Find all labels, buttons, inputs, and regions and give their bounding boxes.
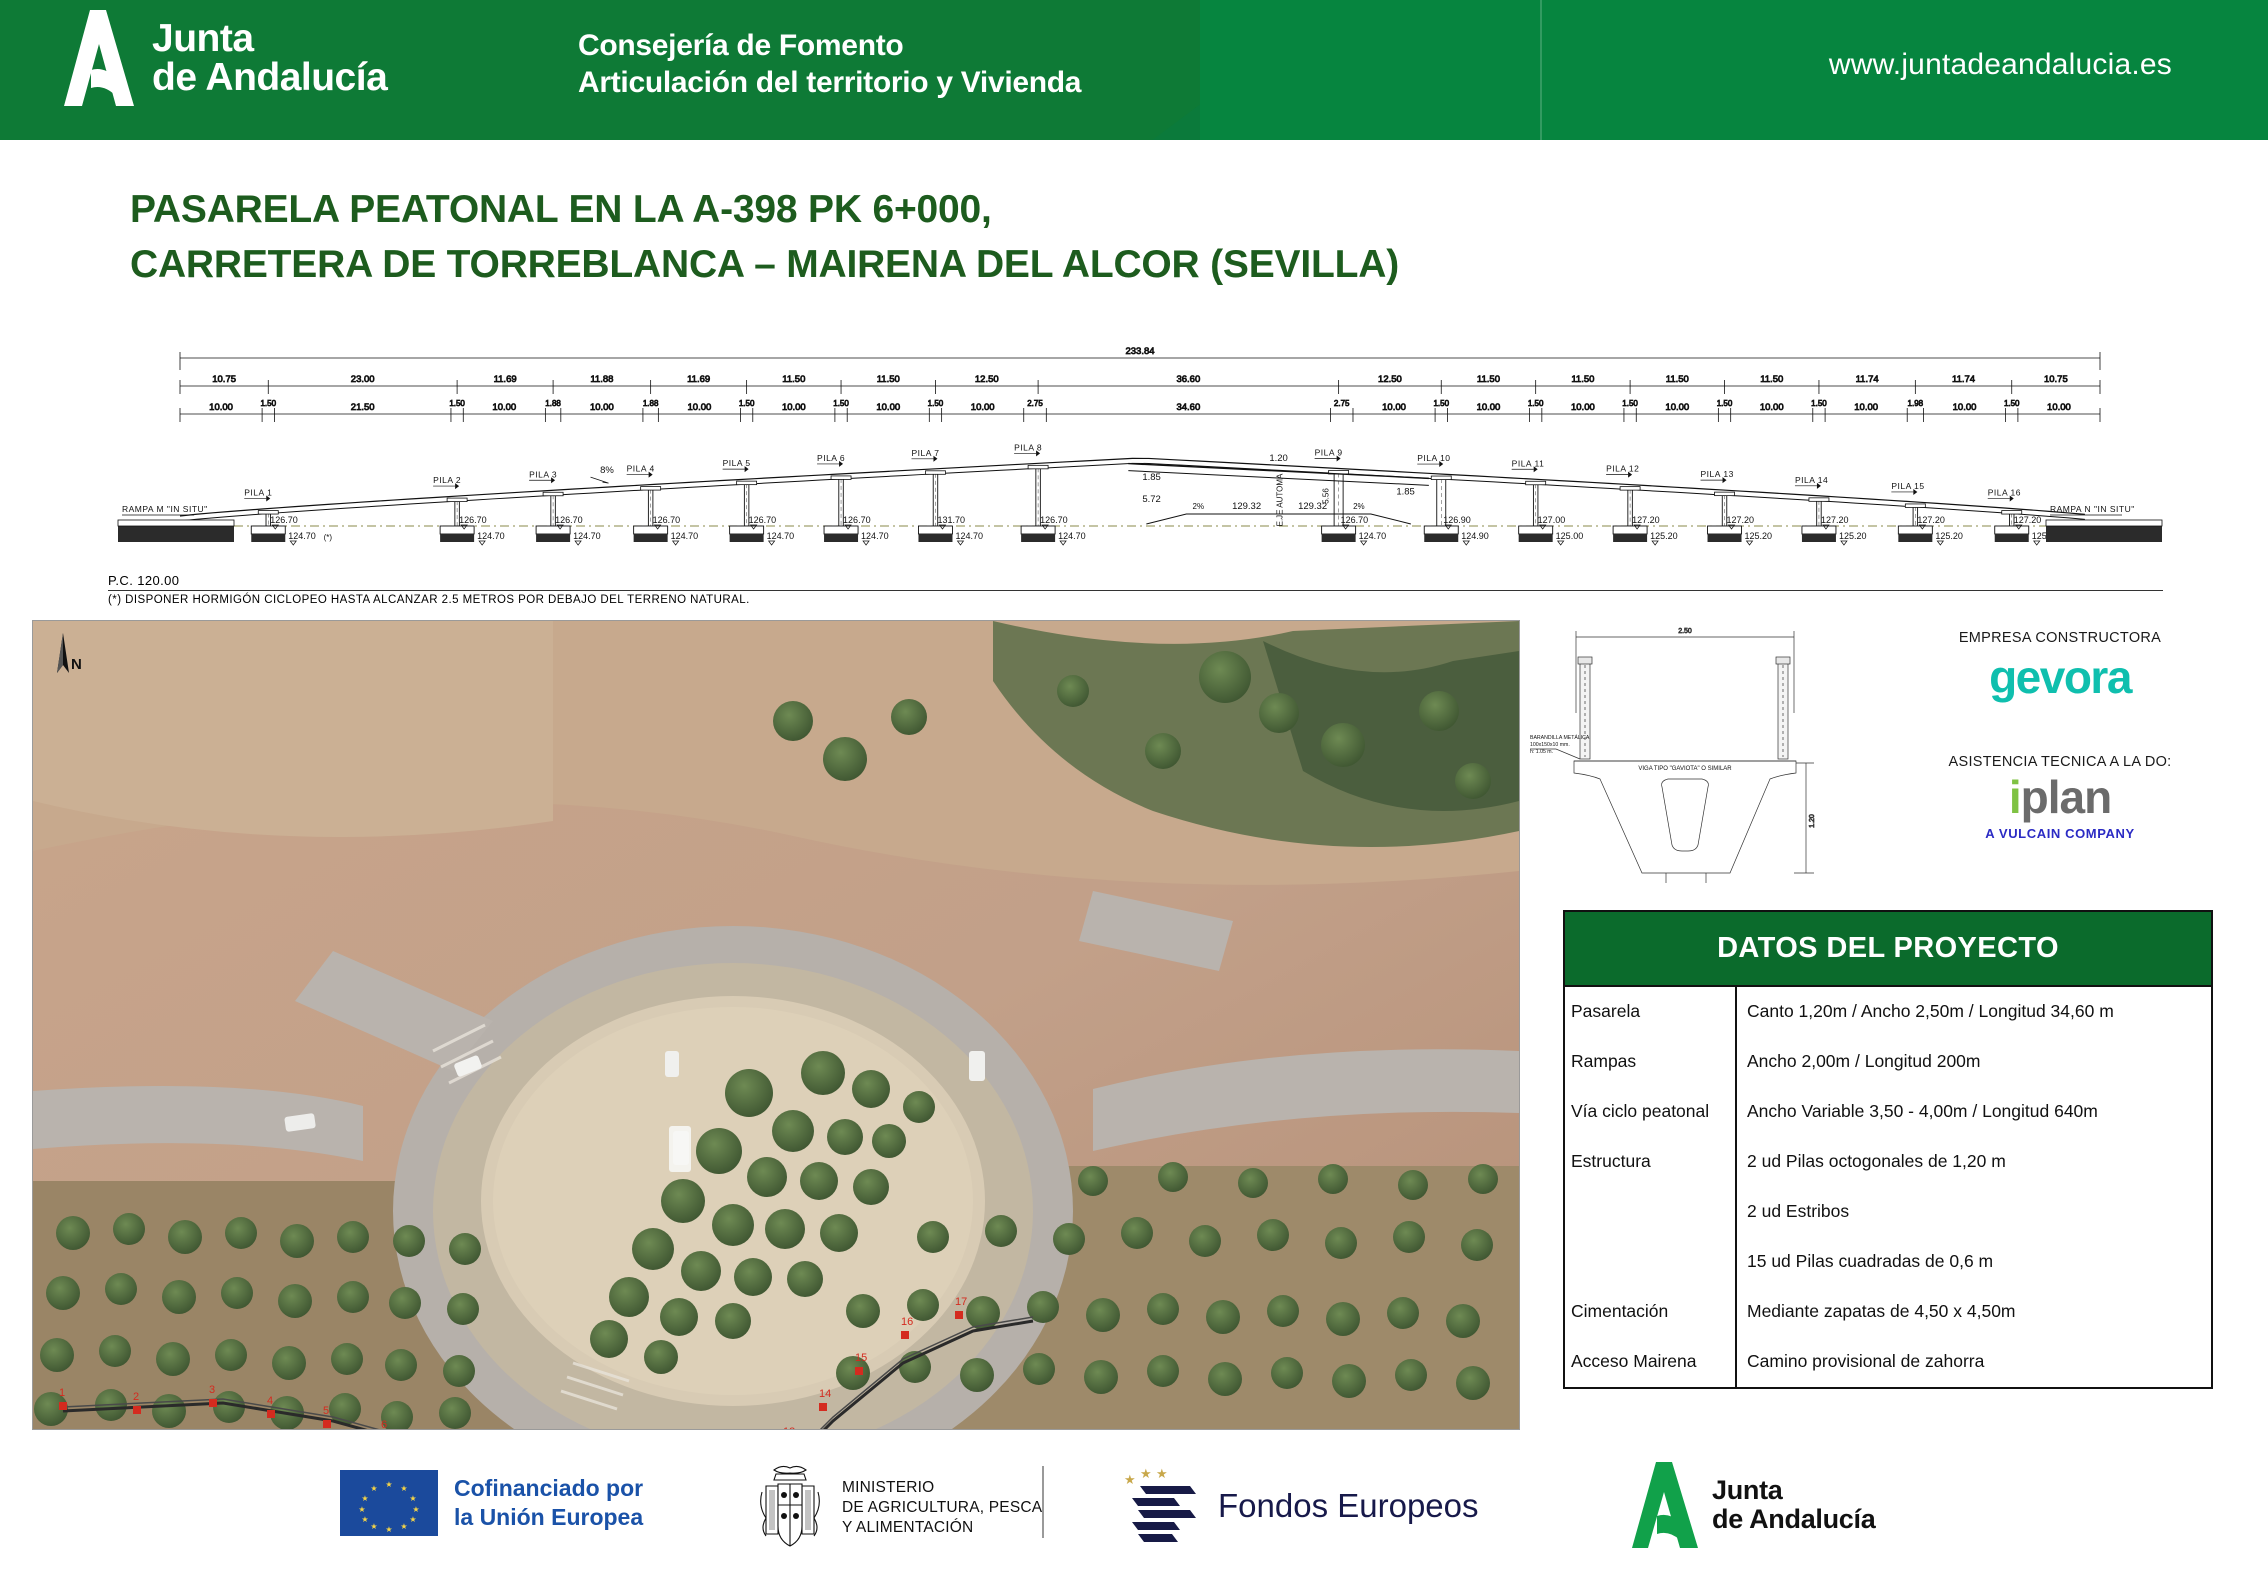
dimension-label: 10.00 (1665, 402, 1689, 413)
pier-footing (1021, 526, 1055, 534)
dimension-label: 124.70 (955, 531, 983, 541)
eu-line2: la Unión Europea (454, 1503, 643, 1532)
dimension-label: 11.50 (782, 374, 805, 385)
dimension-label: 127.00 (1538, 515, 1566, 525)
dimension-label: 126.90 (1443, 515, 1471, 525)
dimension-label: 124.70 (573, 531, 601, 541)
dimension-label: PILA 11 (1512, 458, 1545, 468)
pier-footing-hatch (1802, 534, 1836, 542)
table-cell-key: Pasarela (1565, 987, 1737, 1037)
xsec-girder-label: VIGA TIPO "GAVIOTA" O SIMILAR (1638, 766, 1732, 772)
deck-bottom-line (180, 463, 2085, 521)
dimension-label: 131.70 (937, 515, 965, 525)
dimension-label: PILA 12 (1606, 464, 1639, 474)
dimension-label: 2.75 (1334, 399, 1350, 408)
pier-footing-hatch (1322, 534, 1356, 542)
dimension-label: 124.70 (288, 531, 316, 541)
pier-footing (1995, 526, 2029, 534)
pier-footing-hatch (1021, 534, 1055, 542)
dimension-label: 127.20 (1821, 515, 1849, 525)
table-cell-value: Mediante zapatas de 4,50 x 4,50m (1737, 1287, 2211, 1337)
dimension-label: PILA 1 (244, 488, 272, 498)
elevation-svg: 233.8410.7523.0011.6911.8811.6911.5011.5… (100, 340, 2180, 600)
aerial-pier-marker-label: 15 (855, 1352, 867, 1364)
dimension-label: 5.56 (1322, 488, 1331, 504)
aerial-svg: 1234567891011121314151617 34,60 N (33, 621, 1519, 1429)
dimension-label: 124.70 (861, 531, 889, 541)
table-cell-value: Ancho 2,00m / Longitud 200m (1737, 1037, 2211, 1087)
svg-text:★: ★ (1140, 1466, 1152, 1481)
reference-plane-note: P.C. 120.00 (108, 573, 179, 588)
junta-footer-line1: Junta (1712, 1476, 1875, 1505)
dimension-label: 124.70 (671, 531, 699, 541)
bridge-elevation-drawing: 233.8410.7523.0011.6911.8811.6911.5011.5… (100, 340, 2180, 600)
junta-andalucia-logo: Junta de Andalucía (60, 8, 387, 108)
dimension-label: PILA 7 (911, 448, 939, 458)
junta-a-mark-icon (60, 8, 138, 108)
pier-footing-hatch (536, 534, 570, 542)
dimension-label: 125.20 (1745, 531, 1773, 541)
website-url[interactable]: www.juntadeandalucia.es (1829, 48, 2172, 82)
aerial-site-photo: 1234567891011121314151617 34,60 N (32, 620, 1520, 1430)
svg-text:★: ★ (409, 1515, 416, 1524)
dimension-label: 11.74 (1952, 374, 1975, 385)
dimension-label: 11.88 (590, 374, 613, 385)
svg-text:★: ★ (358, 1505, 365, 1514)
dimension-label: 2% (1193, 502, 1205, 511)
dimension-label: PILA 14 (1795, 475, 1828, 485)
svg-text:★: ★ (385, 1480, 392, 1489)
dimension-label: 1.50 (2004, 399, 2020, 408)
svg-text:★: ★ (400, 1484, 407, 1493)
svg-text:★: ★ (385, 1525, 392, 1534)
dimension-label: 11.50 (1760, 374, 1783, 385)
dimension-label: 124.70 (477, 531, 505, 541)
pier-capital (1431, 476, 1451, 480)
dimension-label: 21.50 (351, 402, 375, 413)
pier-footing (824, 526, 858, 534)
dimension-label: PILA 10 (1417, 453, 1450, 463)
table-row: Acceso MairenaCamino provisional de zaho… (1565, 1337, 2211, 1387)
department-line2: Articulación del territorio y Vivienda (578, 65, 1081, 102)
pier-footing (1519, 526, 1553, 534)
dimension-label: 10.00 (688, 402, 712, 413)
pier-footing (1802, 526, 1836, 534)
dimension-label: 125.20 (1650, 531, 1678, 541)
dimension-label: 11.74 (1856, 374, 1879, 385)
dimension-label: 126.70 (1040, 515, 1068, 525)
dimension-label: 126.70 (459, 515, 487, 525)
pier-capital (258, 511, 278, 515)
dimension-label: 127.20 (1917, 515, 1945, 525)
dimension-label: 10.00 (1382, 402, 1406, 413)
page-title-line1: PASARELA PEATONAL EN LA A-398 PK 6+000, (130, 182, 1830, 237)
pier-capital (2002, 511, 2022, 515)
svg-text:★: ★ (361, 1515, 368, 1524)
pier-footing (440, 526, 474, 534)
dimension-label: 1.50 (739, 399, 755, 408)
pier-capital (737, 481, 757, 485)
pier-capital (1620, 487, 1640, 491)
aerial-pier-marker-label: 1 (59, 1387, 65, 1399)
table-cell-key: Estructura (1565, 1137, 1737, 1187)
dimension-label: PILA 16 (1988, 488, 2021, 498)
department-line1: Consejería de Fomento (578, 28, 1081, 65)
ministry-line3: Y ALIMENTACIÓN (842, 1518, 1042, 1538)
department-title: Consejería de Fomento Articulación del t… (578, 28, 1081, 101)
dimension-label: 2% (1353, 502, 1365, 511)
aerial-pier-marker-label: 16 (901, 1316, 913, 1328)
iplan-logo: iplan (1880, 774, 2240, 820)
dimension-label: 126.70 (653, 515, 681, 525)
spain-coat-of-arms-icon (752, 1462, 828, 1554)
notes-rule (108, 590, 2163, 591)
table-row: Estructura2 ud Pilas octogonales de 1,20… (1565, 1137, 2211, 1187)
dimension-label: PILA 9 (1315, 447, 1343, 457)
table-cell-key: Vía ciclo peatonal (1565, 1087, 1737, 1137)
dimension-label: 124.70 (1359, 531, 1387, 541)
junta-a-mark-footer-icon (1630, 1460, 1700, 1550)
table-cell-value: Camino provisional de zahorra (1737, 1337, 2211, 1387)
svg-text:★: ★ (1156, 1466, 1168, 1481)
eu-flag-icon: ★ ★ ★ ★ ★ ★ ★ ★ ★ ★ ★ ★ (340, 1470, 438, 1536)
svg-text:★: ★ (370, 1484, 377, 1493)
deck-cross-section-drawing: 2.50 1.20 VIGA TIPO "GAVIOTA" O SIMILAR … (1530, 615, 1840, 885)
dimension-label: 36.60 (1176, 374, 1200, 385)
pier-footing (1708, 526, 1742, 534)
pier-capital (925, 471, 945, 475)
project-data-header: DATOS DEL PROYECTO (1565, 912, 2211, 985)
dimension-label: 1.98 (1908, 399, 1924, 408)
dimension-label: RAMPA N "IN SITU" (2050, 504, 2135, 514)
xsec-depth-dim: 1.20 (1809, 814, 1816, 828)
fondos-europeos-logo: ★ ★ ★ Fondos Europeos (1110, 1466, 1479, 1546)
pier-footing (1898, 526, 1932, 534)
pier-footing-hatch (1708, 534, 1742, 542)
table-row: RampasAncho 2,00m / Longitud 200m (1565, 1037, 2211, 1087)
dimension-label: PILA 3 (529, 469, 557, 479)
page-title: PASARELA PEATONAL EN LA A-398 PK 6+000, … (130, 182, 1830, 293)
xsec-railing-note-l3: h: 1.05 m. (1530, 749, 1553, 755)
dimension-label: 1.85 (1396, 486, 1415, 497)
pier-footing-hatch (1898, 534, 1932, 542)
table-cell-key: Rampas (1565, 1037, 1737, 1087)
pier-capital (543, 492, 563, 496)
table-cell-value: 2 ud Estribos (1737, 1187, 2211, 1237)
dimension-label: 5.72 (1142, 494, 1161, 505)
table-cell-key: Acceso Mairena (1565, 1337, 1737, 1387)
pier-footing-hatch (440, 534, 474, 542)
assistance-caption: ASISTENCIA TECNICA A LA DO: (1880, 754, 2240, 770)
company-logos: EMPRESA CONSTRUCTORA gevora ASISTENCIA T… (1880, 630, 2240, 841)
junta-line2: de Andalucía (152, 58, 387, 97)
fondos-europeos-text: Fondos Europeos (1218, 1487, 1479, 1525)
pier-footing (730, 526, 764, 534)
aerial-pier-marker-label: 14 (819, 1388, 831, 1400)
vulcain-subtitle: A VULCAIN COMPANY (1880, 826, 2240, 841)
cross-section-svg: 2.50 1.20 VIGA TIPO "GAVIOTA" O SIMILAR … (1530, 615, 1840, 885)
pier-footing-hatch (730, 534, 764, 542)
pier-capital (1526, 481, 1546, 485)
pier-capital (1809, 498, 1829, 502)
pier-capital (447, 498, 467, 502)
table-row: Vía ciclo peatonalAncho Variable 3,50 - … (1565, 1087, 2211, 1137)
dimension-label: 1.85 (1142, 472, 1161, 483)
dimension-label: PILA 13 (1701, 469, 1734, 479)
deck-top-line (180, 458, 2085, 516)
junta-footer-logo: Junta de Andalucía (1630, 1460, 1875, 1550)
dimension-label: 10.00 (2047, 402, 2071, 413)
project-data-body: PasarelaCanto 1,20m / Ancho 2,50m / Long… (1565, 985, 2211, 1387)
pier-footing (536, 526, 570, 534)
dimension-label: 129.32 (1232, 501, 1261, 512)
pier-footing-hatch (634, 534, 668, 542)
dimension-label: PILA 5 (723, 458, 751, 468)
dimension-label: 2.75 (1027, 399, 1043, 408)
dimension-label: RAMPA M "IN SITU" (122, 504, 208, 514)
table-row: CimentaciónMediante zapatas de 4,50 x 4,… (1565, 1287, 2211, 1337)
fondos-europeos-icon: ★ ★ ★ (1110, 1466, 1202, 1546)
dimension-label: 10.00 (590, 402, 614, 413)
dimension-label: 1.88 (545, 399, 561, 408)
dimension-label: 1.50 (1433, 399, 1449, 408)
dimension-label: 1.50 (1528, 399, 1544, 408)
ministry-text: MINISTERIO DE AGRICULTURA, PESCA Y ALIME… (842, 1478, 1042, 1538)
svg-text:★: ★ (400, 1522, 407, 1531)
page-title-line2: CARRETERA DE TORREBLANCA – MAIRENA DEL A… (130, 237, 1830, 292)
dimension-label: (*) (324, 533, 333, 542)
table-cell-value: 15 ud Pilas cuadradas de 0,6 m (1737, 1237, 2211, 1287)
dimension-label: 1.50 (1717, 399, 1733, 408)
aerial-pier-marker-label: 5 (323, 1405, 329, 1417)
iplan-rest: plan (2021, 771, 2112, 823)
dimension-label: PILA 8 (1014, 442, 1042, 452)
right-abutment (2046, 526, 2162, 542)
svg-text:★: ★ (370, 1522, 377, 1531)
dimension-label: 127.20 (1632, 515, 1660, 525)
dimension-label: 11.50 (1666, 374, 1689, 385)
dimension-label: 124.90 (1461, 531, 1489, 541)
pier-footing (918, 526, 952, 534)
left-abutment (118, 526, 234, 542)
pier-footing-hatch (251, 534, 285, 542)
dimension-label: 10.75 (2044, 374, 2068, 385)
table-cell-key (1565, 1237, 1737, 1287)
pier-footing (1322, 526, 1356, 534)
dimension-label: 11.50 (1477, 374, 1500, 385)
table-cell-key (1565, 1187, 1737, 1237)
pier-footing-hatch (1519, 534, 1553, 542)
dimension-label: 126.70 (1341, 515, 1369, 525)
svg-text:★: ★ (1124, 1472, 1136, 1487)
dimension-label: PILA 2 (433, 475, 461, 485)
dimension-label: 127.20 (2014, 515, 2042, 525)
project-data-table: DATOS DEL PROYECTO PasarelaCanto 1,20m /… (1563, 910, 2213, 1389)
xsec-width-dim: 2.50 (1678, 628, 1692, 635)
dimension-label: 233.84 (1125, 346, 1154, 357)
dimension-label: 10.00 (971, 402, 995, 413)
table-cell-value: 2 ud Pilas octogonales de 1,20 m (1737, 1137, 2211, 1187)
dimension-label: 23.00 (351, 374, 375, 385)
dimension-label: PILA 4 (627, 464, 655, 474)
constructor-caption: EMPRESA CONSTRUCTORA (1880, 630, 2240, 646)
dimension-label: 125.20 (1935, 531, 1963, 541)
page-header: Junta de Andalucía Consejería de Fomento… (0, 0, 2268, 140)
dimension-label: 1.50 (1622, 399, 1638, 408)
dimension-label: 1.50 (833, 399, 849, 408)
dimension-label: 10.00 (492, 402, 516, 413)
table-cell-value: Ancho Variable 3,50 - 4,00m / Longitud 6… (1737, 1087, 2211, 1137)
table-cell-key: Cimentación (1565, 1287, 1737, 1337)
dimension-label: 10.00 (1571, 402, 1595, 413)
eu-cofinancing-text: Cofinanciado por la Unión Europea (454, 1474, 643, 1532)
iplan-i: i (2009, 771, 2021, 823)
dimension-label: 34.60 (1176, 402, 1200, 413)
dimension-label: 10.00 (1760, 402, 1784, 413)
dimension-label: 126.70 (555, 515, 583, 525)
dimension-label: 127.20 (1727, 515, 1755, 525)
svg-text:★: ★ (361, 1494, 368, 1503)
pier-footing (251, 526, 285, 534)
pier-capital (1715, 492, 1735, 496)
pier-footing (1424, 526, 1458, 534)
pier-footing (1613, 526, 1647, 534)
pier-footing-hatch (1613, 534, 1647, 542)
dimension-label: 1.50 (928, 399, 944, 408)
pier-capital (831, 476, 851, 480)
ministry-logo: MINISTERIO DE AGRICULTURA, PESCA Y ALIME… (752, 1462, 1042, 1554)
footing-note: (*) DISPONER HORMIGÓN CICLOPEO HASTA ALC… (108, 594, 750, 606)
dimension-label: PILA 6 (817, 453, 845, 463)
dimension-label: 12.50 (975, 374, 999, 385)
ministry-line2: DE AGRICULTURA, PESCA (842, 1498, 1042, 1518)
gevora-logo: gevora (1880, 654, 2240, 700)
junta-line1: Junta (152, 19, 387, 58)
dimension-label: 124.70 (767, 531, 795, 541)
dimension-label: 10.00 (876, 402, 900, 413)
eu-line1: Cofinanciado por (454, 1474, 643, 1503)
dimension-label: 126.70 (843, 515, 871, 525)
dimension-label: 1.50 (260, 399, 276, 408)
dimension-label: 10.75 (212, 374, 236, 385)
aerial-pier-marker-label: 2 (133, 1391, 139, 1403)
eu-cofinancing-logo: ★ ★ ★ ★ ★ ★ ★ ★ ★ ★ ★ ★ Cofinanciado por… (340, 1470, 643, 1536)
dimension-label: 12.50 (1378, 374, 1402, 385)
aerial-pier-marker-label: 3 (209, 1384, 215, 1396)
pier-capital (1905, 504, 1925, 508)
dimension-label: 1.50 (449, 399, 465, 408)
dimension-label: 8% (600, 465, 614, 476)
aerial-pier-marker-label: 17 (955, 1296, 967, 1308)
svg-text:★: ★ (409, 1494, 416, 1503)
dimension-label: 11.69 (494, 374, 517, 385)
dimension-label: 10.00 (1953, 402, 1977, 413)
aerial-pier-marker-label: 6 (381, 1419, 387, 1429)
aerial-pier-marker-label: 13 (783, 1426, 795, 1429)
junta-wordmark: Junta de Andalucía (152, 19, 387, 97)
dimension-label: 125.20 (1839, 531, 1867, 541)
pier-footing-hatch (1424, 534, 1458, 542)
dimension-label: 126.70 (270, 515, 298, 525)
pier-footing-hatch (918, 534, 952, 542)
footer-divider (1042, 1466, 1044, 1538)
svg-text:N: N (71, 656, 82, 673)
dimension-label: 124.70 (1058, 531, 1086, 541)
dimension-label: 125.00 (1556, 531, 1584, 541)
table-cell-value: Canto 1,20m / Ancho 2,50m / Longitud 34,… (1737, 987, 2211, 1037)
table-row: 15 ud Pilas cuadradas de 0,6 m (1565, 1237, 2211, 1287)
dimension-label: 11.69 (687, 374, 710, 385)
pier-footing-hatch (824, 534, 858, 542)
header-divider (1540, 0, 1542, 140)
table-row: PasarelaCanto 1,20m / Ancho 2,50m / Long… (1565, 987, 2211, 1037)
dimension-label: 11.50 (877, 374, 900, 385)
dimension-label: PILA 15 (1891, 481, 1924, 491)
pier-footing (634, 526, 668, 534)
ministry-line1: MINISTERIO (842, 1478, 1042, 1498)
xsec-railing-note-l1: BARANDILLA METÁLICA (1530, 734, 1590, 741)
dimension-label: E.JE AUTOMA (1276, 473, 1285, 526)
dimension-label: 1.50 (1811, 399, 1827, 408)
xsec-railing-note-l2: 100x150x10 mm. (1530, 742, 1570, 748)
pier-capital (641, 487, 661, 491)
dimension-label: 1.88 (643, 399, 659, 408)
dimension-label: 10.00 (1477, 402, 1501, 413)
aerial-pier-marker-label: 4 (267, 1395, 273, 1407)
table-row: 2 ud Estribos (1565, 1187, 2211, 1237)
junta-footer-text: Junta de Andalucía (1712, 1476, 1875, 1533)
pier-capital (1028, 465, 1048, 469)
junta-footer-line2: de Andalucía (1712, 1505, 1875, 1534)
page-footer: ★ ★ ★ ★ ★ ★ ★ ★ ★ ★ ★ ★ Cofinanciado por… (0, 1448, 2268, 1587)
dimension-label: 10.00 (782, 402, 806, 413)
dimension-label: 1.20 (1269, 453, 1288, 464)
pier-footing-hatch (1995, 534, 2029, 542)
dimension-label: 10.00 (209, 402, 233, 413)
dimension-label: 126.70 (749, 515, 777, 525)
svg-text:★: ★ (412, 1505, 419, 1514)
dimension-label: 10.00 (1854, 402, 1878, 413)
dimension-label: 11.50 (1571, 374, 1594, 385)
